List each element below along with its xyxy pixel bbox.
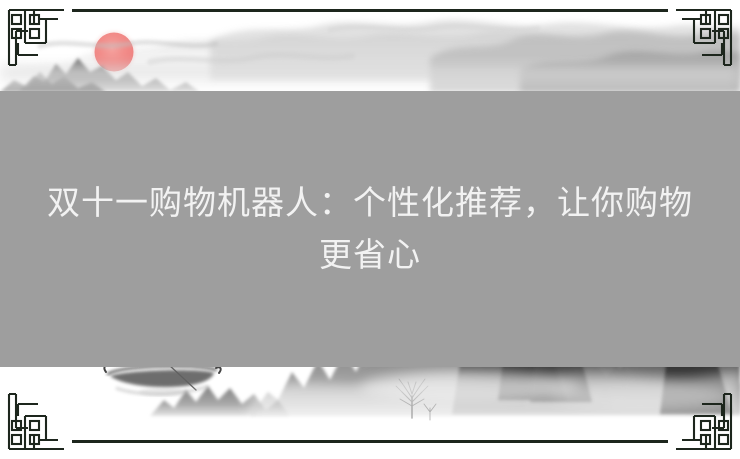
corner-ornament-bottom-right xyxy=(672,390,734,452)
title-container: 双十一购物机器人：个性化推荐，让你购物更省心 xyxy=(0,91,740,367)
corner-ornament-top-right xyxy=(672,7,734,69)
corner-ornament-top-left xyxy=(6,7,68,69)
poster-canvas: 双十一购物机器人：个性化推荐，让你购物更省心 xyxy=(0,0,740,459)
bottom-rule xyxy=(72,440,668,443)
corner-ornament-bottom-left xyxy=(6,390,68,452)
page-title: 双十一购物机器人：个性化推荐，让你购物更省心 xyxy=(40,177,700,281)
top-scene xyxy=(0,20,740,96)
top-rule xyxy=(72,9,668,12)
